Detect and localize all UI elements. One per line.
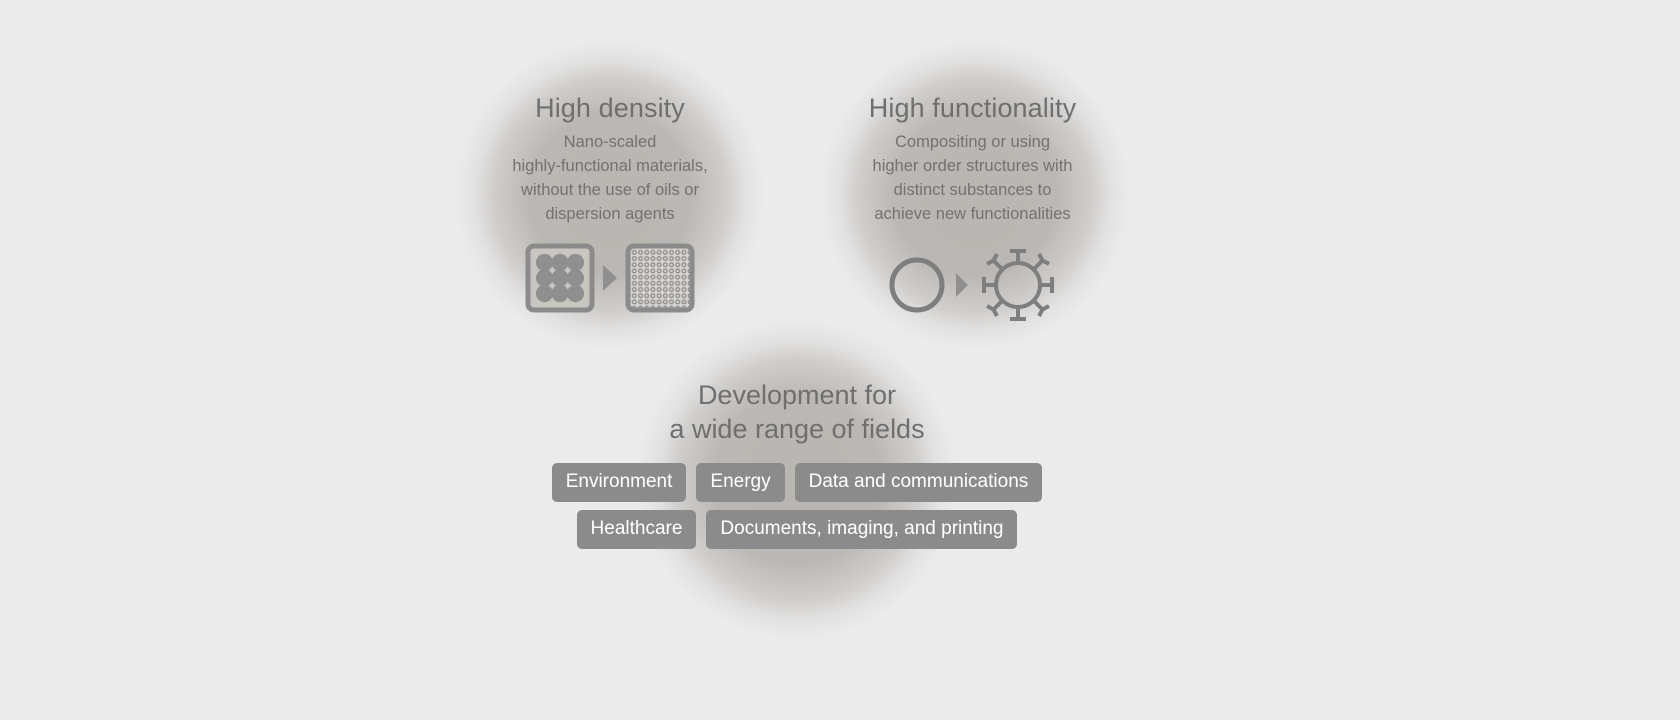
high-functionality-description: Compositing or using higher order struct… xyxy=(790,131,1155,227)
tag-row: Healthcare Documents, imaging, and print… xyxy=(577,510,1018,549)
tag-row: Environment Energy Data and communicatio… xyxy=(552,463,1043,502)
group-high-density: High density Nano-scaled highly-function… xyxy=(450,92,770,313)
tag-documents-imaging-printing[interactable]: Documents, imaging, and printing xyxy=(706,510,1017,549)
functionalized-ring-icon xyxy=(976,243,1060,327)
plain-ring-icon xyxy=(886,250,948,320)
coarse-particle-grid-icon xyxy=(525,243,595,313)
development-tag-list: Environment Energy Data and communicatio… xyxy=(527,463,1067,549)
tag-healthcare[interactable]: Healthcare xyxy=(577,510,697,549)
high-density-icon-row xyxy=(450,243,770,313)
diagram-canvas: High density Nano-scaled highly-function… xyxy=(0,0,1680,720)
high-density-heading: High density xyxy=(450,92,770,125)
high-density-description: Nano-scaled highly-functional materials,… xyxy=(450,131,770,227)
arrow-right-icon xyxy=(601,263,619,293)
tag-data-and-communications[interactable]: Data and communications xyxy=(795,463,1043,502)
arrow-right-icon xyxy=(954,270,970,300)
development-heading: Development for a wide range of fields xyxy=(527,378,1067,447)
high-functionality-heading: High functionality xyxy=(790,92,1155,125)
tag-energy[interactable]: Energy xyxy=(696,463,784,502)
tag-environment[interactable]: Environment xyxy=(552,463,687,502)
group-development: Development for a wide range of fields E… xyxy=(527,378,1067,549)
group-high-functionality: High functionality Compositing or using … xyxy=(790,92,1155,327)
dense-particle-grid-icon xyxy=(625,243,695,313)
high-functionality-icon-row xyxy=(790,243,1155,327)
